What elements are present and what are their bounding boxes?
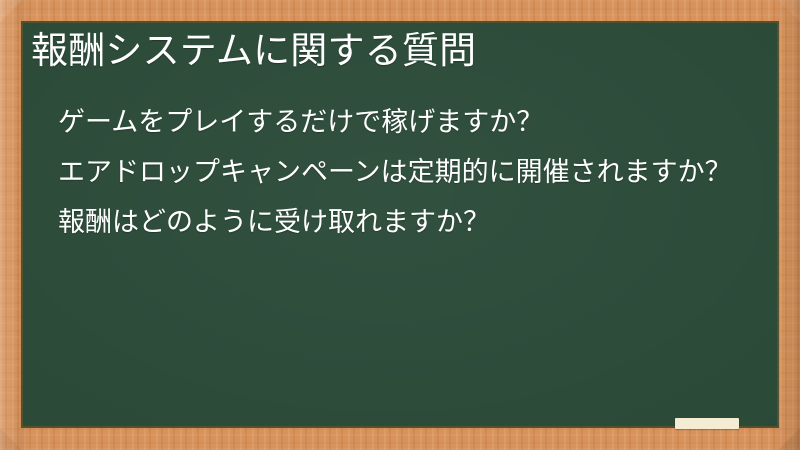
chalkboard-surface: 報酬システムに関する質問 ゲームをプレイするだけで稼げますか？ エアドロップキャ… [21, 21, 779, 428]
list-item: 報酬はどのように受け取れますか？ [45, 201, 757, 245]
slide-title: 報酬システムに関する質問 [31, 27, 771, 75]
frame-miter-top-right [778, 0, 800, 22]
frame-miter-top-left [0, 0, 22, 22]
chalkboard-slide: 報酬システムに関する質問 ゲームをプレイするだけで稼げますか？ エアドロップキャ… [0, 0, 800, 450]
list-item: エアドロップキャンペーンは定期的に開催されますか？ [45, 151, 757, 195]
chalk-stick [675, 418, 739, 429]
frame-miter-bottom-left [0, 428, 22, 450]
list-item: ゲームをプレイするだけで稼げますか？ [45, 101, 757, 145]
frame-miter-bottom-right [778, 428, 800, 450]
question-list: ゲームをプレイするだけで稼げますか？ エアドロップキャンペーンは定期的に開催され… [45, 101, 757, 245]
slide-content: 報酬システムに関する質問 ゲームをプレイするだけで稼げますか？ エアドロップキャ… [23, 23, 779, 428]
